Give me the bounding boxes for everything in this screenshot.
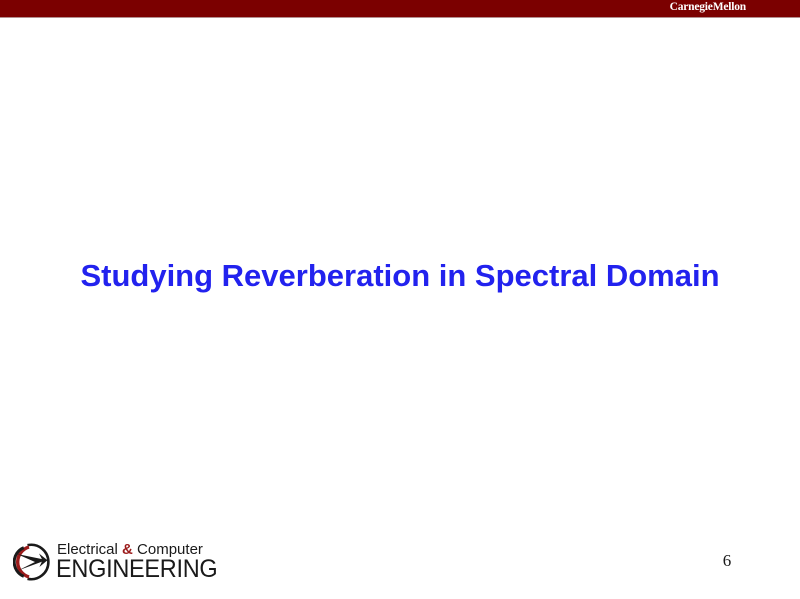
ece-globe-icon (13, 541, 55, 583)
ece-logo-engineering-text: ENGINEERING (56, 555, 217, 583)
ece-wordmark: Electrical & Computer ENGINEERING (57, 540, 229, 586)
slide-title: Studying Reverberation in Spectral Domai… (80, 256, 719, 296)
ece-logo: Electrical & Computer ENGINEERING (13, 540, 228, 586)
carnegie-mellon-wordmark: CarnegieMellon (670, 0, 746, 14)
slide: CarnegieMellon Studying Reverberation in… (0, 0, 800, 599)
slide-title-block: Studying Reverberation in Spectral Domai… (0, 256, 800, 296)
page-number: 6 (712, 551, 742, 571)
header-band-underline (0, 17, 800, 18)
